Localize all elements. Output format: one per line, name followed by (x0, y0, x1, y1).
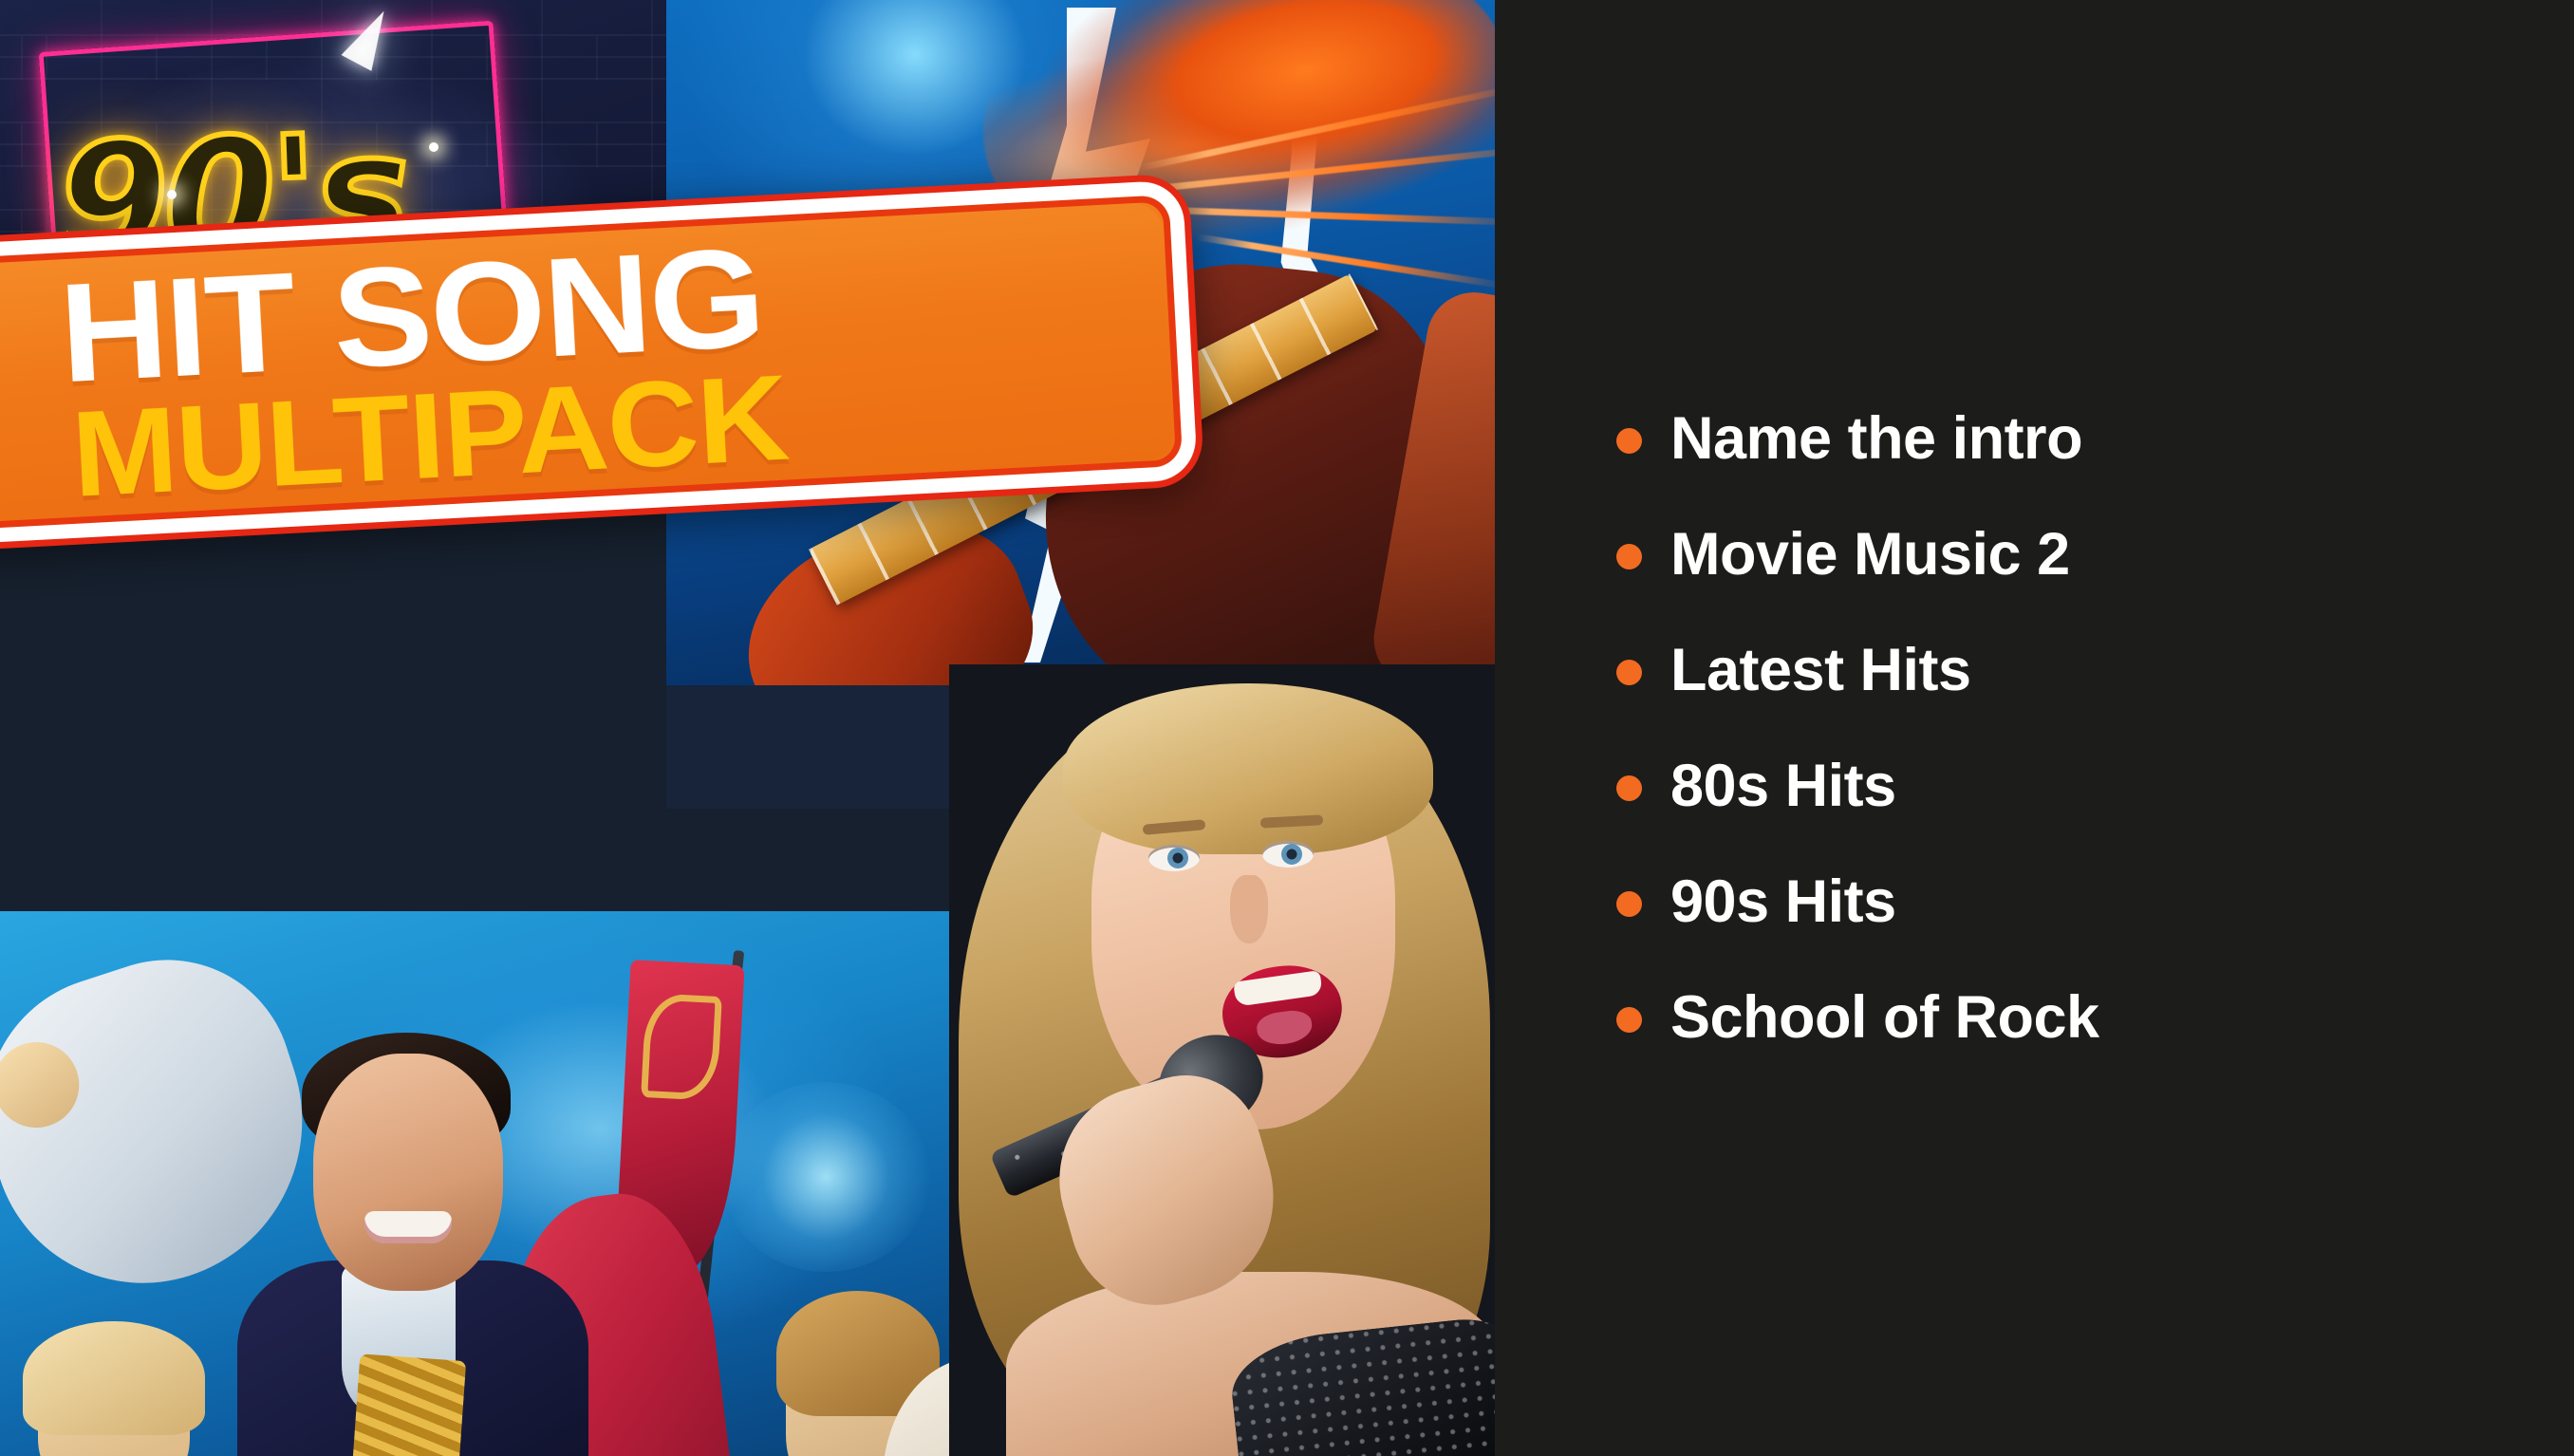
acrobat-head (0, 1031, 90, 1138)
artwork-collage: 90's HITS (0, 0, 1495, 1456)
bullet-list: Name the intro Movie Music 2 Latest Hits… (1495, 0, 2574, 1456)
hit-song-multipack-banner: HIT SONG MULTIPACK (0, 173, 1204, 551)
bullet-dot-icon (1616, 775, 1642, 801)
list-item[interactable]: 90s Hits (1616, 844, 2517, 960)
ringmaster-gold-trim (346, 1353, 466, 1456)
slide-root: 90's HITS (0, 0, 2574, 1456)
cast-member-left (38, 1338, 190, 1456)
acrobat-figure (0, 927, 345, 1322)
stage-light-glow (721, 1082, 930, 1272)
list-item-label: 90s Hits (1670, 872, 1896, 932)
list-item[interactable]: Name the intro (1616, 381, 2517, 496)
bullet-dot-icon (1616, 660, 1642, 685)
sparkle-icon (429, 142, 438, 152)
list-item[interactable]: 80s Hits (1616, 728, 2517, 844)
list-item-label: Movie Music 2 (1670, 525, 2070, 585)
singer-fringe (1063, 683, 1433, 854)
list-item[interactable]: Latest Hits (1616, 612, 2517, 728)
ringmaster-smile (364, 1211, 452, 1243)
list-item-label: 80s Hits (1670, 756, 1896, 816)
panel-pop-singer (949, 664, 1495, 1456)
list-item[interactable]: Movie Music 2 (1616, 496, 2517, 612)
bullet-dot-icon (1616, 544, 1642, 569)
list-item-label: Latest Hits (1670, 641, 1971, 700)
singer-eye (1148, 845, 1200, 871)
list-item[interactable]: School of Rock (1616, 960, 2517, 1075)
banner-title-line2: MULTIPACK (69, 362, 791, 513)
list-item-label: Name the intro (1670, 409, 2082, 469)
singer-nose (1230, 875, 1268, 943)
bullet-dot-icon (1616, 891, 1642, 917)
ringmaster-head (313, 1054, 503, 1291)
list-item-label: School of Rock (1670, 988, 2099, 1048)
singer-eye (1262, 841, 1314, 868)
bullet-dot-icon (1616, 1007, 1642, 1033)
panel-greatest-showman (0, 911, 968, 1456)
bullet-dot-icon (1616, 428, 1642, 454)
sparkle-icon (167, 190, 177, 199)
